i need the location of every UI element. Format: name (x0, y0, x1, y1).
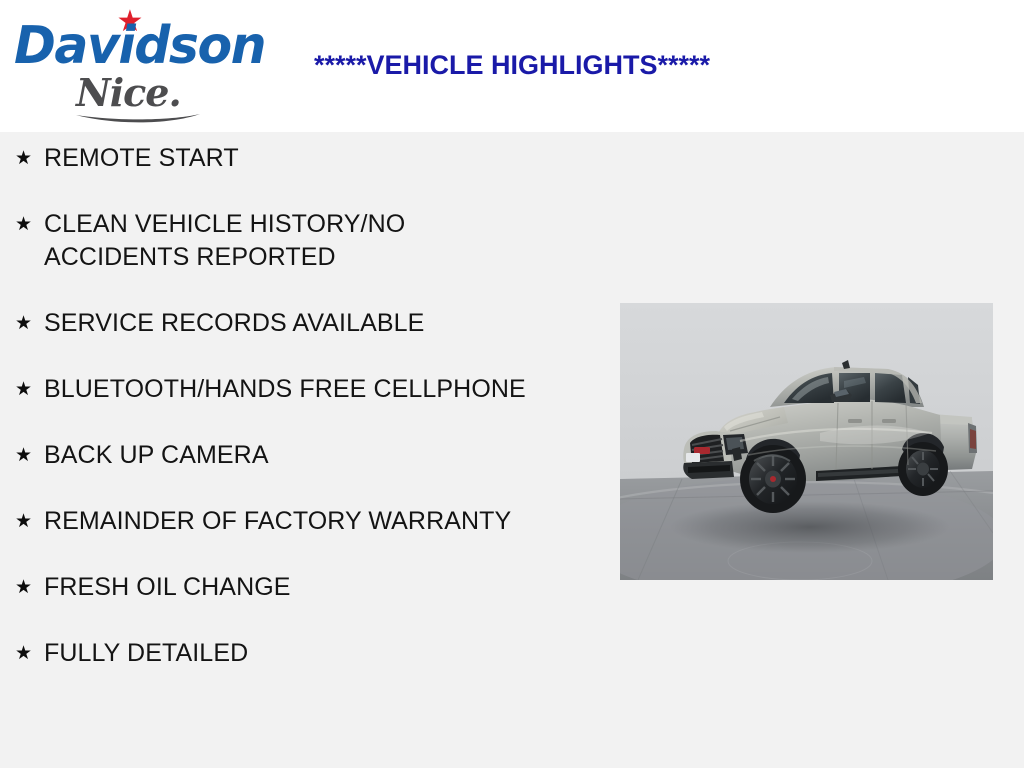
star-bullet-icon: ★ (12, 307, 44, 340)
star-bullet-icon: ★ (12, 637, 44, 670)
vehicle-photo-illustration (620, 303, 993, 580)
list-item-label: BACK UP CAMERA (44, 439, 532, 472)
star-bullet-icon: ★ (12, 142, 44, 175)
list-item: ★ FULLY DETAILED (12, 637, 532, 670)
list-item: ★ CLEAN VEHICLE HISTORY/NO ACCIDENTS REP… (12, 208, 532, 274)
vehicle-photo[interactable] (620, 303, 993, 580)
list-item: ★ REMAINDER OF FACTORY WARRANTY (12, 505, 532, 538)
vehicle-highlights-slide: ★ Davidson Nice. *****VEHICLE HIGHLIGHTS… (0, 0, 1024, 768)
list-item: ★ FRESH OIL CHANGE (12, 571, 532, 604)
star-bullet-icon: ★ (12, 439, 44, 472)
list-item: ★ SERVICE RECORDS AVAILABLE (12, 307, 532, 340)
page-title: *****VEHICLE HIGHLIGHTS***** (0, 50, 1024, 81)
list-item-label: REMOTE START (44, 142, 532, 175)
logo-swoosh-icon (74, 112, 204, 126)
list-item: ★ REMOTE START (12, 142, 532, 175)
star-bullet-icon: ★ (12, 505, 44, 538)
list-item: ★ BACK UP CAMERA (12, 439, 532, 472)
vehicle-highlights-list: ★ REMOTE START ★ CLEAN VEHICLE HISTORY/N… (12, 142, 532, 703)
star-bullet-icon: ★ (12, 208, 44, 241)
star-bullet-icon: ★ (12, 571, 44, 604)
list-item-label: FRESH OIL CHANGE (44, 571, 532, 604)
list-item-label: REMAINDER OF FACTORY WARRANTY (44, 505, 532, 538)
list-item-label: BLUETOOTH/HANDS FREE CELLPHONE (44, 373, 532, 406)
list-item-label: SERVICE RECORDS AVAILABLE (44, 307, 532, 340)
list-item: ★ BLUETOOTH/HANDS FREE CELLPHONE (12, 373, 532, 406)
list-item-label: FULLY DETAILED (44, 637, 532, 670)
list-item-label: CLEAN VEHICLE HISTORY/NO ACCIDENTS REPOR… (44, 208, 532, 274)
header-bar: ★ Davidson Nice. *****VEHICLE HIGHLIGHTS… (0, 0, 1024, 132)
star-bullet-icon: ★ (12, 373, 44, 406)
